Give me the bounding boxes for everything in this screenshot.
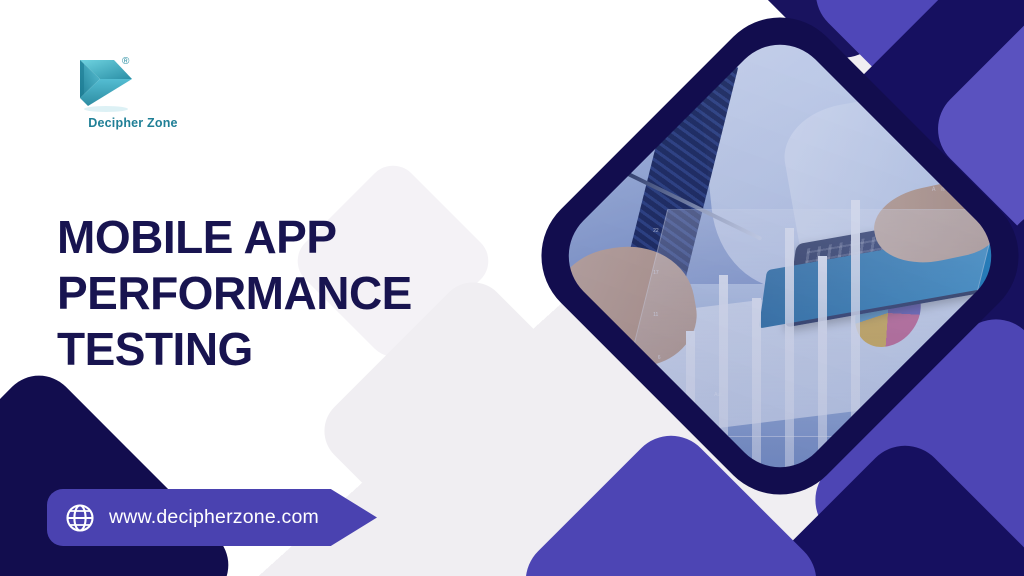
page-title: MOBILE APP PERFORMANCE TESTING <box>57 209 497 377</box>
registered-mark: ® <box>122 56 129 67</box>
banner-canvas: 22 17 11 6 Ada Aut.. D a t a A n a l y s… <box>0 0 1024 576</box>
title-line-2: PERFORMANCE <box>57 265 497 321</box>
title-line-1: MOBILE APP <box>57 209 497 265</box>
brand-logo[interactable]: ® Decipher Zone <box>58 52 218 142</box>
brand-name: Decipher Zone <box>58 116 208 130</box>
website-url-pill[interactable]: www.decipherzone.com <box>47 489 377 546</box>
title-line-3: TESTING <box>57 321 497 377</box>
decipher-zone-arrow-logo-icon <box>70 52 144 114</box>
website-url-text: www.decipherzone.com <box>109 506 319 529</box>
globe-icon <box>65 503 95 533</box>
